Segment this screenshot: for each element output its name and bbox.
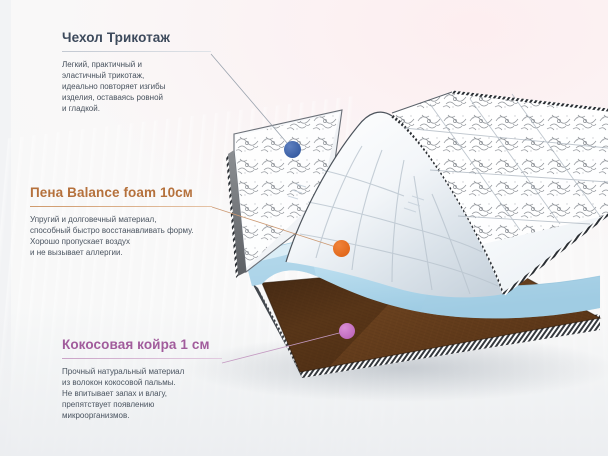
callout-coir-body: Прочный натуральный материал из волокон … — [62, 366, 222, 421]
callout-cover-body: Легкий, практичный и эластичный трикотаж… — [62, 59, 211, 114]
callout-foam: Пена Balance foam 10см Упругий и долгове… — [30, 186, 212, 258]
infographic-canvas: Чехол Трикотаж Легкий, практичный и элас… — [0, 0, 608, 456]
callout-cover-rule — [62, 51, 211, 52]
callout-coir: Кокосовая койра 1 см Прочный натуральный… — [62, 338, 222, 421]
callout-foam-rule — [30, 206, 212, 207]
callout-foam-body: Упругий и долговечный материал, способны… — [30, 214, 212, 258]
cover-marker-dot[interactable] — [284, 141, 301, 158]
callout-foam-title: Пена Balance foam 10см — [30, 186, 212, 201]
callout-coir-title: Кокосовая койра 1 см — [62, 338, 222, 353]
callout-cover-title: Чехол Трикотаж — [62, 31, 211, 46]
coir-marker-dot[interactable] — [339, 323, 355, 339]
callout-coir-rule — [62, 358, 222, 359]
callout-cover: Чехол Трикотаж Легкий, практичный и элас… — [62, 31, 211, 114]
foam-marker-dot[interactable] — [333, 240, 350, 257]
